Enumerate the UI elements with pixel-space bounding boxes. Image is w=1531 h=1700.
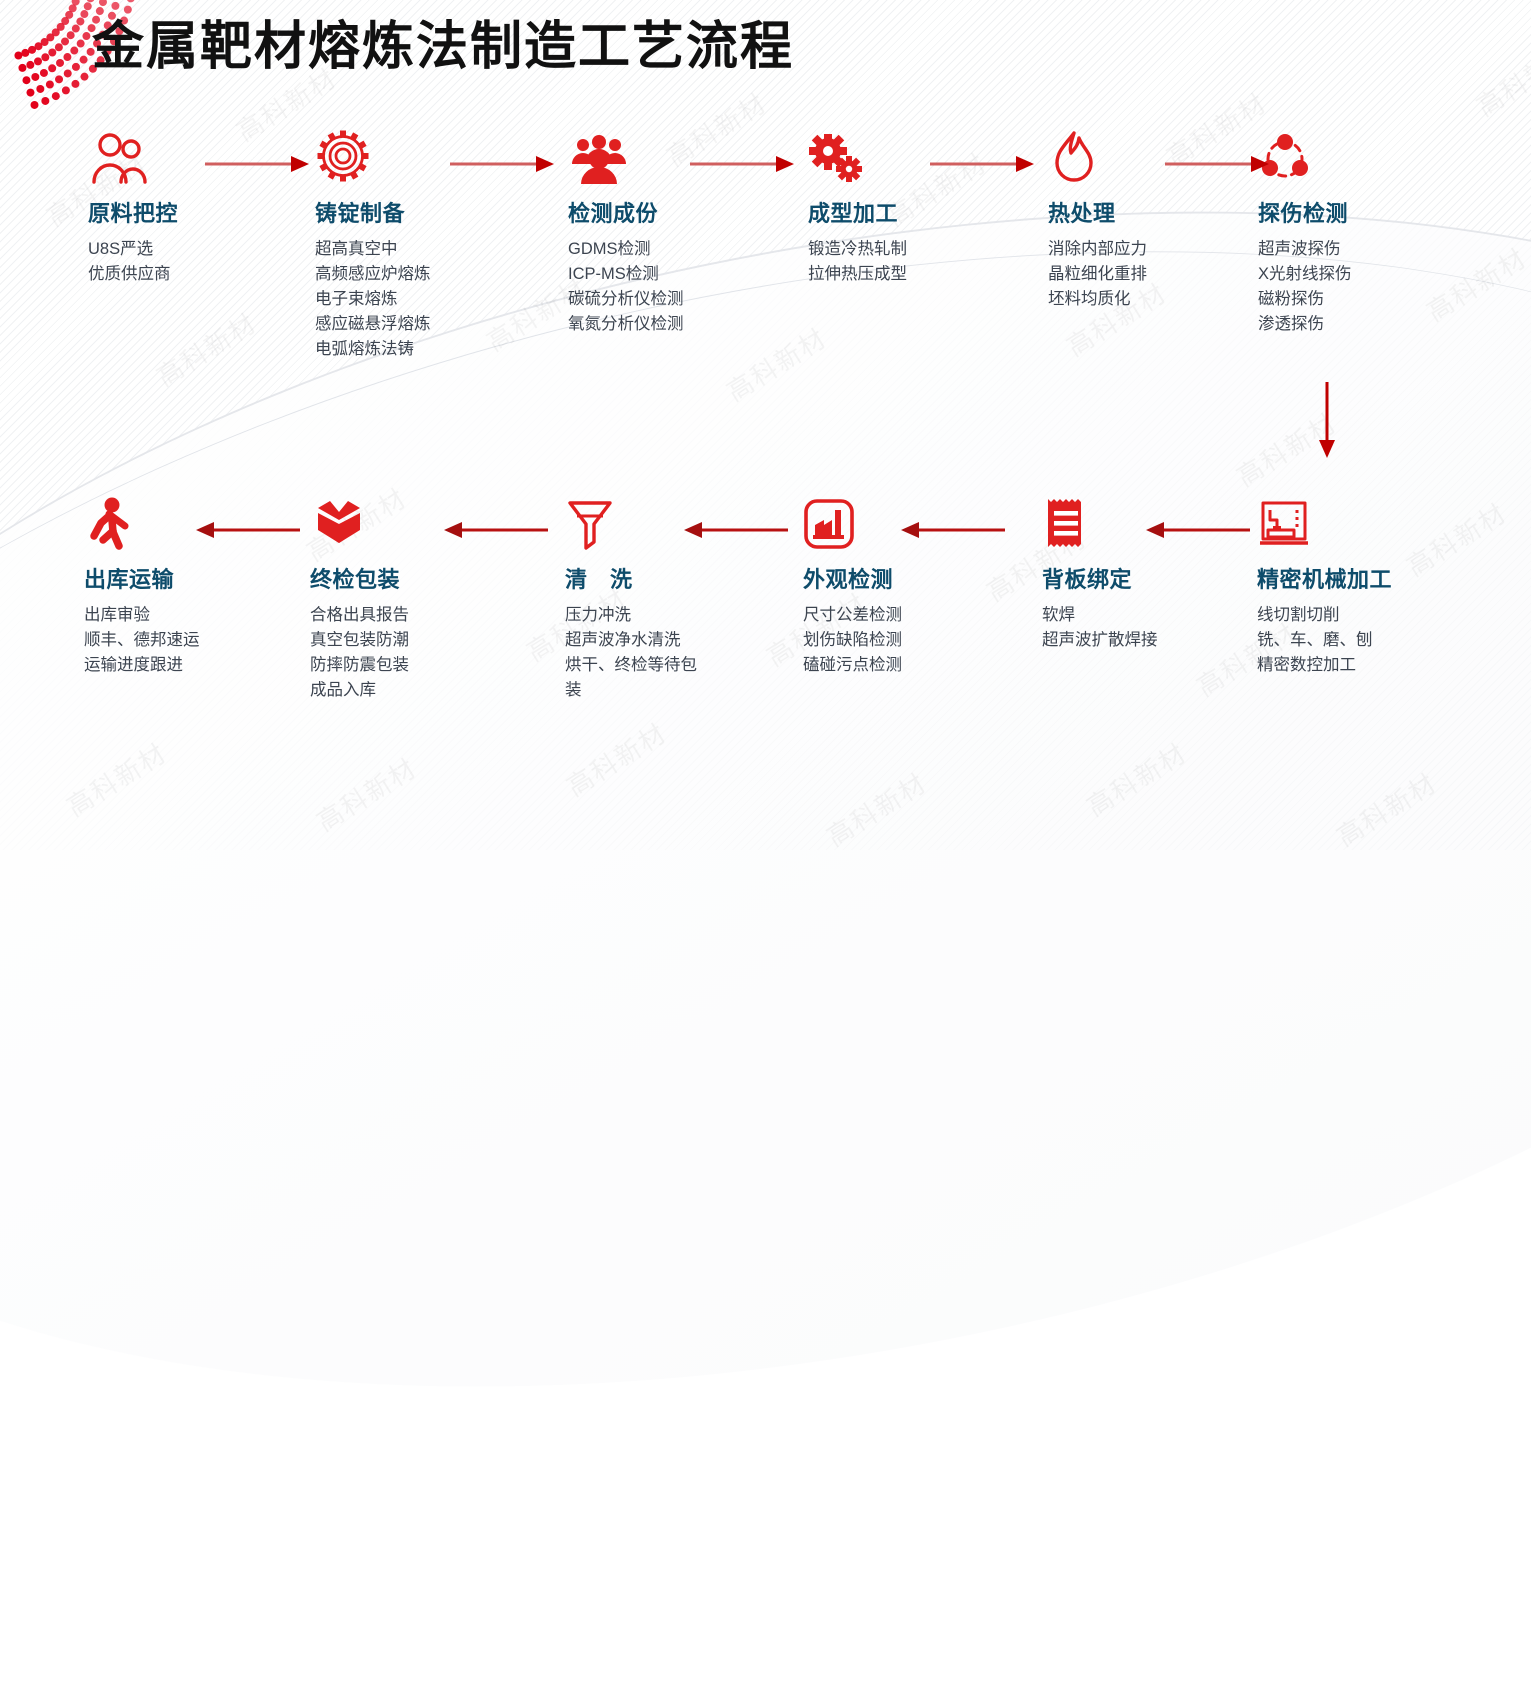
flow-step-精密机械加工[interactable]: 精密机械加工线切割切削铣、车、磨、刨精密数控加工	[1257, 494, 1392, 678]
step-detail-line: 真空包装防潮	[310, 628, 409, 653]
step-title: 探伤检测	[1258, 196, 1352, 228]
step-detail-list: 线切割切削铣、车、磨、刨精密数控加工	[1257, 603, 1392, 678]
step-detail-line: 坯料均质化	[1048, 287, 1147, 312]
step-detail-line: 超高真空中	[315, 237, 431, 262]
step-title: 出库运输	[84, 562, 200, 594]
step-detail-line: 感应磁悬浮熔炼	[315, 312, 431, 337]
step-detail-line: 晶粒细化重排	[1048, 262, 1147, 287]
flow-arrow-right	[450, 152, 555, 176]
step-detail-line: 电子束熔炼	[315, 287, 431, 312]
gear-rings-icon	[315, 128, 431, 184]
step-detail-list: 软焊超声波扩散焊接	[1042, 603, 1158, 653]
step-detail-list: 消除内部应力晶粒细化重排坯料均质化	[1048, 237, 1147, 312]
step-detail-line: 消除内部应力	[1048, 237, 1147, 262]
flow-step-检测成份[interactable]: 检测成份GDMS检测ICP-MS检测碳硫分析仪检测氧氮分析仪检测	[568, 128, 684, 337]
step-detail-line: 超声波扩散焊接	[1042, 628, 1158, 653]
flow-arrow-left	[900, 518, 1005, 542]
factory-frame-icon	[803, 494, 902, 550]
step-detail-list: 锻造冷热轧制拉伸热压成型	[808, 237, 907, 287]
people-group-icon	[568, 128, 684, 184]
step-detail-line: 电弧熔炼法铸	[315, 337, 431, 362]
cnc-machine-icon	[1257, 494, 1392, 550]
step-detail-line: 磕碰污点检测	[803, 653, 902, 678]
flow-arrow-left	[683, 518, 788, 542]
process-flow-diagram: 原料把控U8S严选优质供应商 铸锭制备超高真空中高频感应炉熔炼电子束熔炼感应磁悬…	[0, 0, 1531, 850]
step-detail-line: 顺丰、德邦速运	[84, 628, 200, 653]
three-dots-cycle-icon	[1258, 128, 1352, 184]
step-detail-line: 精密数控加工	[1257, 653, 1392, 678]
step-detail-list: 出库审验顺丰、德邦速运运输进度跟进	[84, 603, 200, 678]
step-detail-line: 运输进度跟进	[84, 653, 200, 678]
step-detail-line: 高频感应炉熔炼	[315, 262, 431, 287]
step-detail-line: 超声波净水清洗	[565, 628, 697, 653]
step-detail-list: 尺寸公差检测划伤缺陷检测磕碰污点检测	[803, 603, 902, 678]
step-detail-line: 磁粉探伤	[1258, 287, 1352, 312]
step-title: 精密机械加工	[1257, 562, 1392, 594]
step-detail-line: X光射线探伤	[1258, 262, 1352, 287]
step-title: 清 洗	[565, 562, 697, 594]
open-box-icon	[310, 494, 409, 550]
flow-arrow-right	[1165, 152, 1270, 176]
step-detail-line: 出库审验	[84, 603, 200, 628]
step-title: 铸锭制备	[315, 196, 431, 228]
step-detail-line: 烘干、终检等待包	[565, 653, 697, 678]
step-detail-line: U8S严选	[88, 237, 178, 262]
step-detail-line: GDMS检测	[568, 237, 684, 262]
receipt-icon	[1042, 494, 1158, 550]
flow-step-探伤检测[interactable]: 探伤检测超声波探伤X光射线探伤磁粉探伤渗透探伤	[1258, 128, 1352, 337]
flow-arrow-right	[930, 152, 1035, 176]
step-detail-list: U8S严选优质供应商	[88, 237, 178, 287]
step-detail-line: 线切割切削	[1257, 603, 1392, 628]
step-detail-line: 拉伸热压成型	[808, 262, 907, 287]
step-title: 终检包装	[310, 562, 409, 594]
flow-step-终检包装[interactable]: 终检包装合格出具报告真空包装防潮防摔防震包装成品入库	[310, 494, 409, 703]
page-title: 金属靶材熔炼法制造工艺流程	[92, 4, 794, 79]
step-detail-list: 压力冲洗超声波净水清洗烘干、终检等待包装	[565, 603, 697, 703]
step-detail-line: 防摔防震包装	[310, 653, 409, 678]
flow-step-出库运输[interactable]: 出库运输出库审验顺丰、德邦速运运输进度跟进	[84, 494, 200, 678]
step-detail-line: 软焊	[1042, 603, 1158, 628]
people-pair-icon	[88, 128, 178, 184]
flow-arrow-right	[690, 152, 795, 176]
flow-arrow-left	[195, 518, 300, 542]
step-detail-line: 氧氮分析仪检测	[568, 312, 684, 337]
step-detail-line: 合格出具报告	[310, 603, 409, 628]
flow-step-铸锭制备[interactable]: 铸锭制备超高真空中高频感应炉熔炼电子束熔炼感应磁悬浮熔炼电弧熔炼法铸	[315, 128, 431, 362]
walking-person-icon	[84, 494, 200, 550]
flow-step-成型加工[interactable]: 成型加工锻造冷热轧制拉伸热压成型	[808, 128, 907, 287]
step-detail-line: 铣、车、磨、刨	[1257, 628, 1392, 653]
step-detail-list: 超高真空中高频感应炉熔炼电子束熔炼感应磁悬浮熔炼电弧熔炼法铸	[315, 237, 431, 362]
funnel-icon	[565, 494, 697, 550]
step-detail-line: 渗透探伤	[1258, 312, 1352, 337]
step-detail-list: GDMS检测ICP-MS检测碳硫分析仪检测氧氮分析仪检测	[568, 237, 684, 337]
step-detail-line: 尺寸公差检测	[803, 603, 902, 628]
step-title: 热处理	[1048, 196, 1147, 228]
flow-step-清 洗[interactable]: 清 洗压力冲洗超声波净水清洗烘干、终检等待包装	[565, 494, 697, 703]
step-detail-line: 压力冲洗	[565, 603, 697, 628]
step-detail-line: ICP-MS检测	[568, 262, 684, 287]
flow-step-原料把控[interactable]: 原料把控U8S严选优质供应商	[88, 128, 178, 287]
step-title: 检测成份	[568, 196, 684, 228]
flame-icon	[1048, 128, 1147, 184]
flow-arrow-down	[1315, 382, 1339, 460]
flow-arrow-right	[205, 152, 310, 176]
step-title: 背板绑定	[1042, 562, 1158, 594]
step-title: 外观检测	[803, 562, 902, 594]
step-detail-line: 优质供应商	[88, 262, 178, 287]
step-detail-list: 合格出具报告真空包装防潮防摔防震包装成品入库	[310, 603, 409, 703]
step-detail-line: 碳硫分析仪检测	[568, 287, 684, 312]
step-detail-line: 划伤缺陷检测	[803, 628, 902, 653]
flow-step-外观检测[interactable]: 外观检测尺寸公差检测划伤缺陷检测磕碰污点检测	[803, 494, 902, 678]
flow-step-背板绑定[interactable]: 背板绑定软焊超声波扩散焊接	[1042, 494, 1158, 653]
flow-step-热处理[interactable]: 热处理消除内部应力晶粒细化重排坯料均质化	[1048, 128, 1147, 312]
step-detail-list: 超声波探伤X光射线探伤磁粉探伤渗透探伤	[1258, 237, 1352, 337]
two-gears-icon	[808, 128, 907, 184]
step-detail-line: 超声波探伤	[1258, 237, 1352, 262]
flow-arrow-left	[1145, 518, 1250, 542]
step-title: 原料把控	[88, 196, 178, 228]
step-detail-line: 装	[565, 678, 697, 703]
step-title: 成型加工	[808, 196, 907, 228]
flow-arrow-left	[443, 518, 548, 542]
step-detail-line: 锻造冷热轧制	[808, 237, 907, 262]
step-detail-line: 成品入库	[310, 678, 409, 703]
